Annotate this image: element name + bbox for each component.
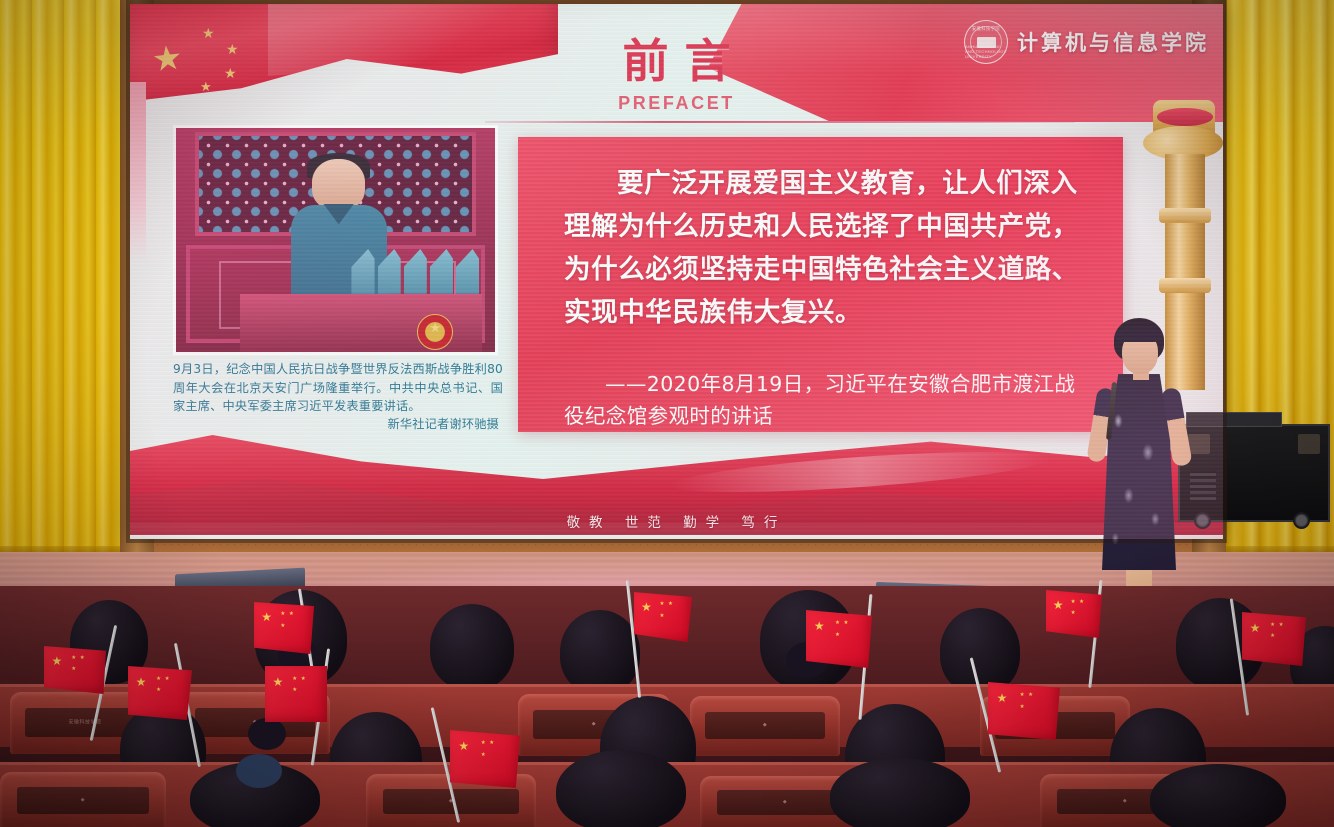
handheld-chinese-flag: [618, 580, 708, 700]
handheld-chinese-flag: [255, 648, 355, 768]
audience-head: [1150, 764, 1286, 827]
quote-attribution: ——2020年8月19日，习近平在安徽合肥市渡江战役纪念馆参观时的讲话: [564, 369, 1094, 433]
photo-microphones: [351, 249, 479, 294]
quote-block: 要广泛开展爱国主义教育，让人们深入理解为什么历史和人民选择了中国共产党，为什么必…: [518, 137, 1123, 432]
handheld-chinese-flag: [128, 642, 218, 772]
handheld-chinese-flag: [1230, 598, 1330, 718]
projection-screen: ★ ★★ ★★ 安徽科技学院 ANHUI SCIENCE AND TECHNOL…: [130, 4, 1223, 539]
slide-title-block: 前言 PREFACET: [130, 38, 1223, 114]
audience-head: [830, 758, 970, 827]
school-motto: 敬教 世范 勤学 笃行: [130, 511, 1223, 531]
slide-title-chinese: 前言: [130, 38, 1223, 84]
equipment-road-case: [1178, 424, 1330, 522]
audience-head: [430, 604, 514, 690]
photo-caption-text: 9月3日，纪念中国人民抗日战争暨世界反法西斯战争胜利80周年大会在北京天安门广场…: [173, 362, 503, 413]
audience-area: 安徽科技学院 ◆ ◆ ◆ ◆ ◆ ◆ ◆: [0, 586, 1334, 827]
quote-text: 要广泛开展爱国主义教育，让人们深入理解为什么历史和人民选择了中国共产党，为什么必…: [564, 163, 1084, 335]
photo-podium: [240, 294, 482, 352]
title-divider: [485, 121, 1075, 123]
handheld-chinese-flag: [40, 624, 140, 744]
stage-curtain-left: [0, 0, 120, 560]
handheld-chinese-flag: [796, 594, 896, 724]
speech-photo: [173, 125, 498, 355]
handheld-chinese-flag: [1040, 580, 1130, 690]
lecture-hall-photo: ★ ★★ ★★ 安徽科技学院 ANHUI SCIENCE AND TECHNOL…: [0, 0, 1334, 827]
presenter: [1086, 318, 1190, 623]
emblem-top-text: 安徽科技学院: [972, 26, 1000, 32]
national-emblem-icon: [417, 314, 453, 350]
handheld-chinese-flag: [440, 706, 550, 826]
slide-title-english: PREFACET: [130, 93, 1223, 114]
audience-head: [556, 750, 686, 827]
auditorium-seat: ◆: [0, 772, 166, 827]
